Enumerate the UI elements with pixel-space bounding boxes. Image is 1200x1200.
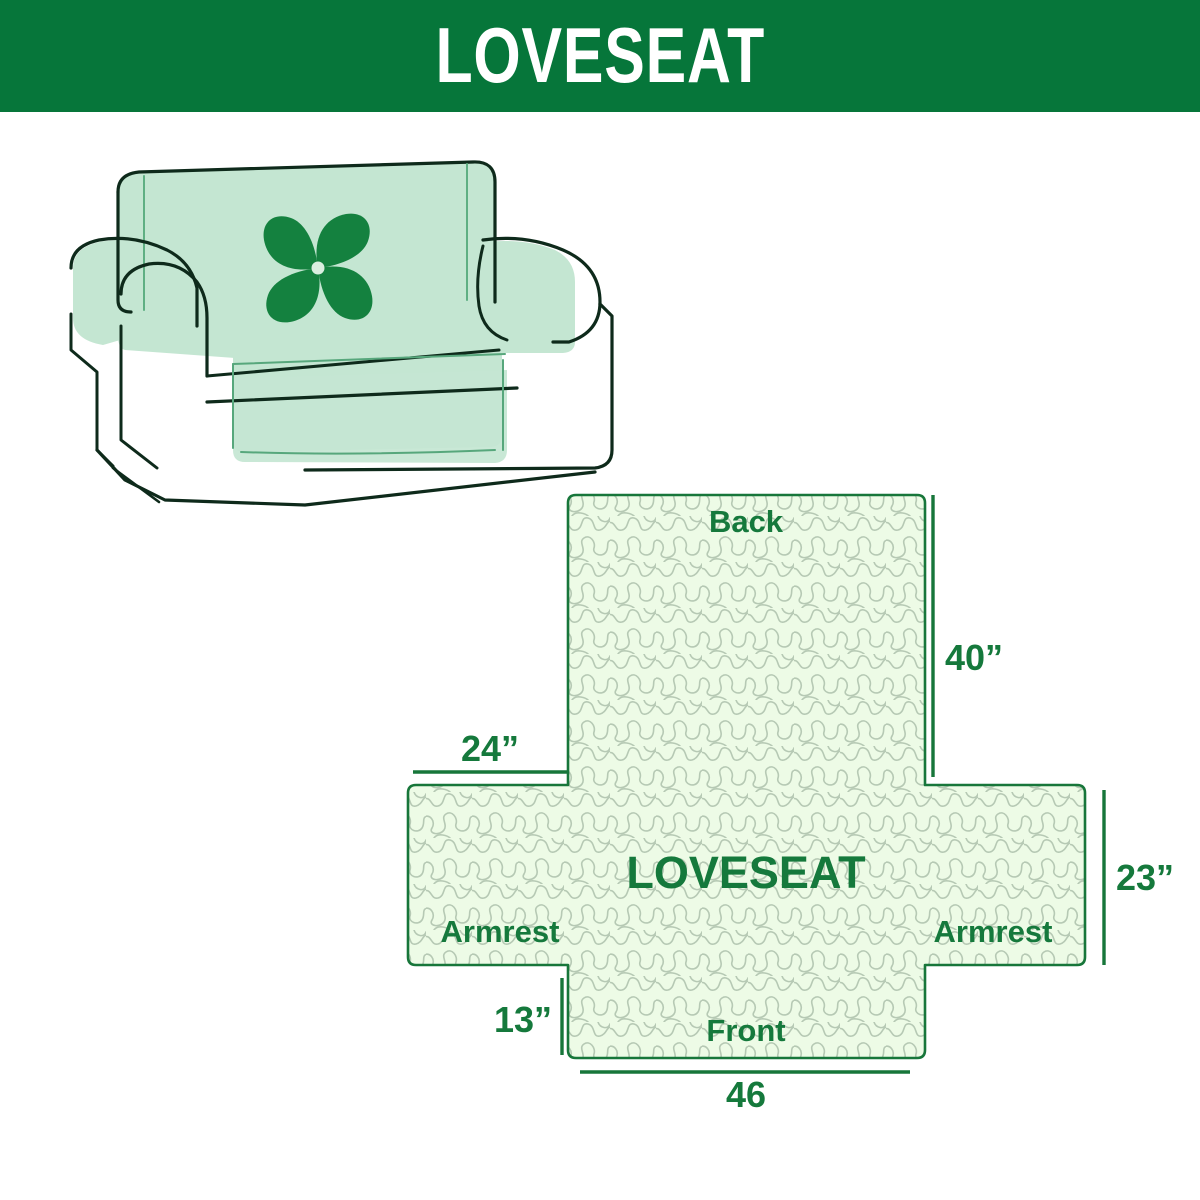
dimension-back-height: 40”	[933, 495, 1003, 777]
dimension-seat-width: 46	[580, 1072, 910, 1110]
dimension-front-height: 13”	[494, 978, 562, 1055]
sofa-seat-skirt-cover	[233, 370, 507, 463]
dimension-label-13: 13”	[494, 999, 552, 1040]
page-title: LOVESEAT	[435, 16, 765, 94]
dimension-armrest-width: 24”	[413, 728, 568, 772]
panel-label-right-armrest: Armrest	[934, 914, 1053, 949]
loveseat-size-guide-page: LOVESEAT	[0, 0, 1200, 1200]
cover-layout-diagram: Back Armrest LOVESEAT Armrest Front 40” …	[380, 470, 1180, 1110]
dimension-label-23: 23”	[1116, 857, 1174, 898]
dimension-label-40: 40”	[945, 637, 1003, 678]
dimension-label-24: 24”	[461, 728, 519, 769]
cover-cross-shape	[408, 495, 1085, 1058]
panel-label-center: LOVESEAT	[626, 847, 865, 898]
panel-label-left-armrest: Armrest	[441, 914, 560, 949]
header-banner: LOVESEAT	[0, 0, 1200, 112]
panel-label-back: Back	[709, 504, 784, 539]
dimension-label-46: 46	[726, 1074, 766, 1110]
panel-label-front: Front	[706, 1013, 785, 1048]
dimension-armrest-height: 23”	[1104, 790, 1174, 965]
